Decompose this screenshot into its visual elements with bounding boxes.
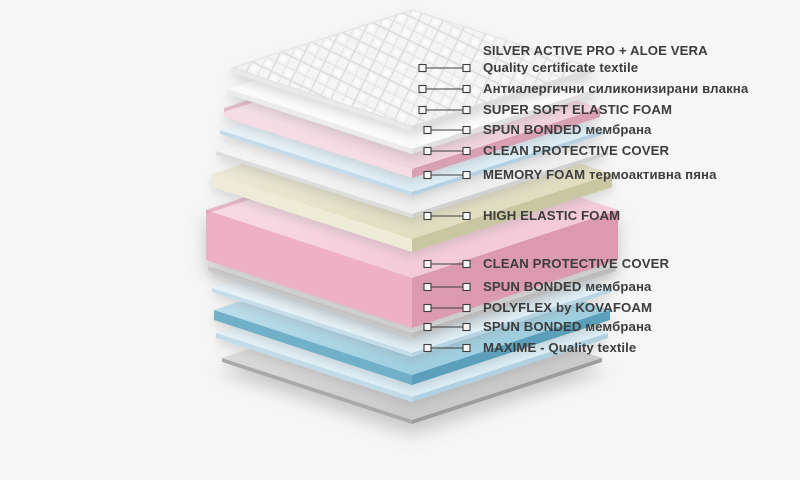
- layer-stack: [206, 10, 618, 424]
- mattress-layer-diagram: [0, 0, 800, 480]
- diagram-stage: SILVER ACTIVE PRO + ALOE VERA Quality ce…: [0, 0, 800, 480]
